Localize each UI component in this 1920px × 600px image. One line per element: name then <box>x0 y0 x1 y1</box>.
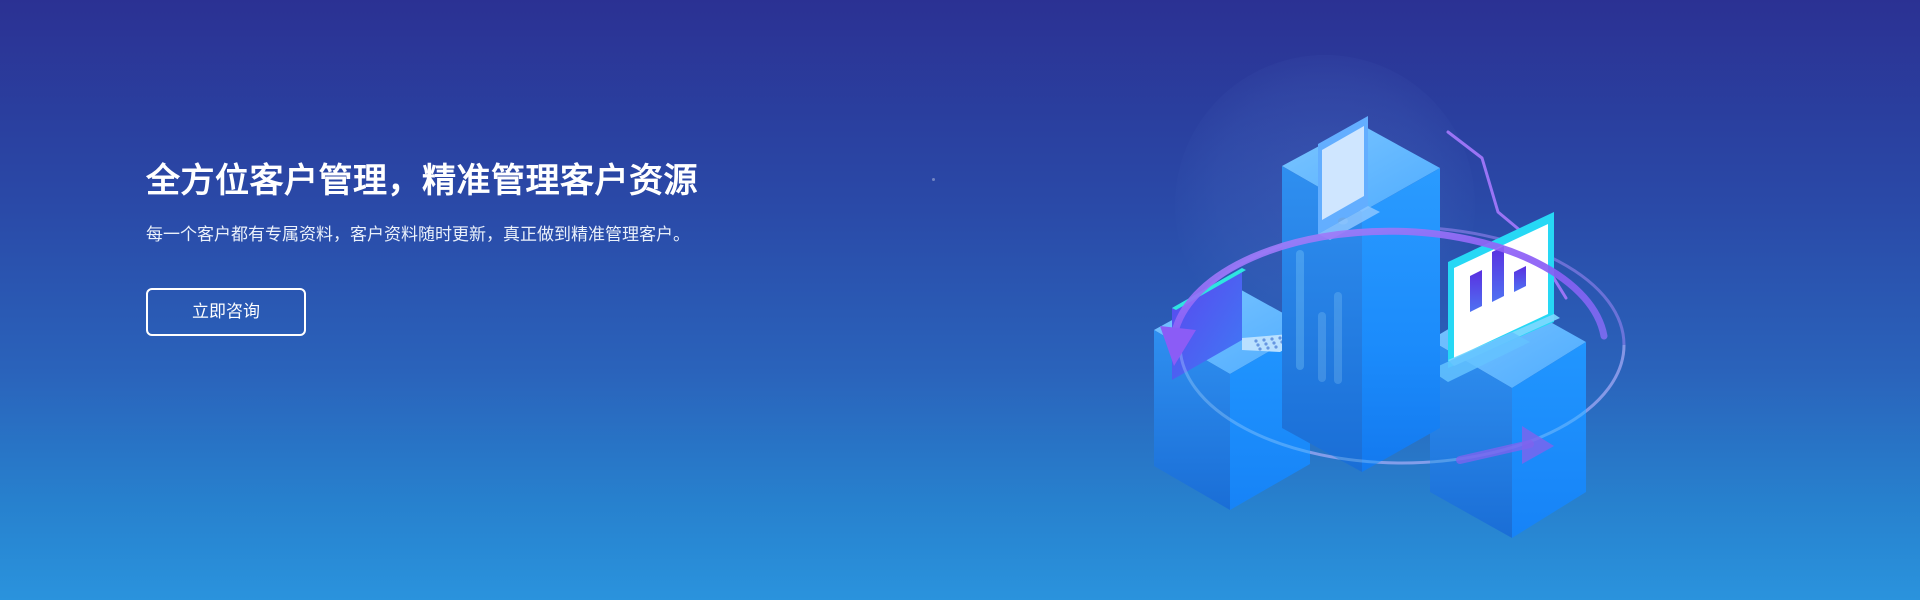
hero-banner: 全方位客户管理，精准管理客户资源 每一个客户都有专属资料，客户资料随时更新，真正… <box>0 0 1920 600</box>
banner-subtitle: 每一个客户都有专属资料，客户资料随时更新，真正做到精准管理客户。 <box>146 221 736 249</box>
page-title: 全方位客户管理，精准管理客户资源 <box>146 160 786 203</box>
background-dot <box>932 178 935 181</box>
banner-copy: 全方位客户管理，精准管理客户资源 每一个客户都有专属资料，客户资料随时更新，真正… <box>146 160 786 336</box>
consult-now-button[interactable]: 立即咨询 <box>146 288 306 336</box>
hero-illustration <box>1130 40 1670 570</box>
